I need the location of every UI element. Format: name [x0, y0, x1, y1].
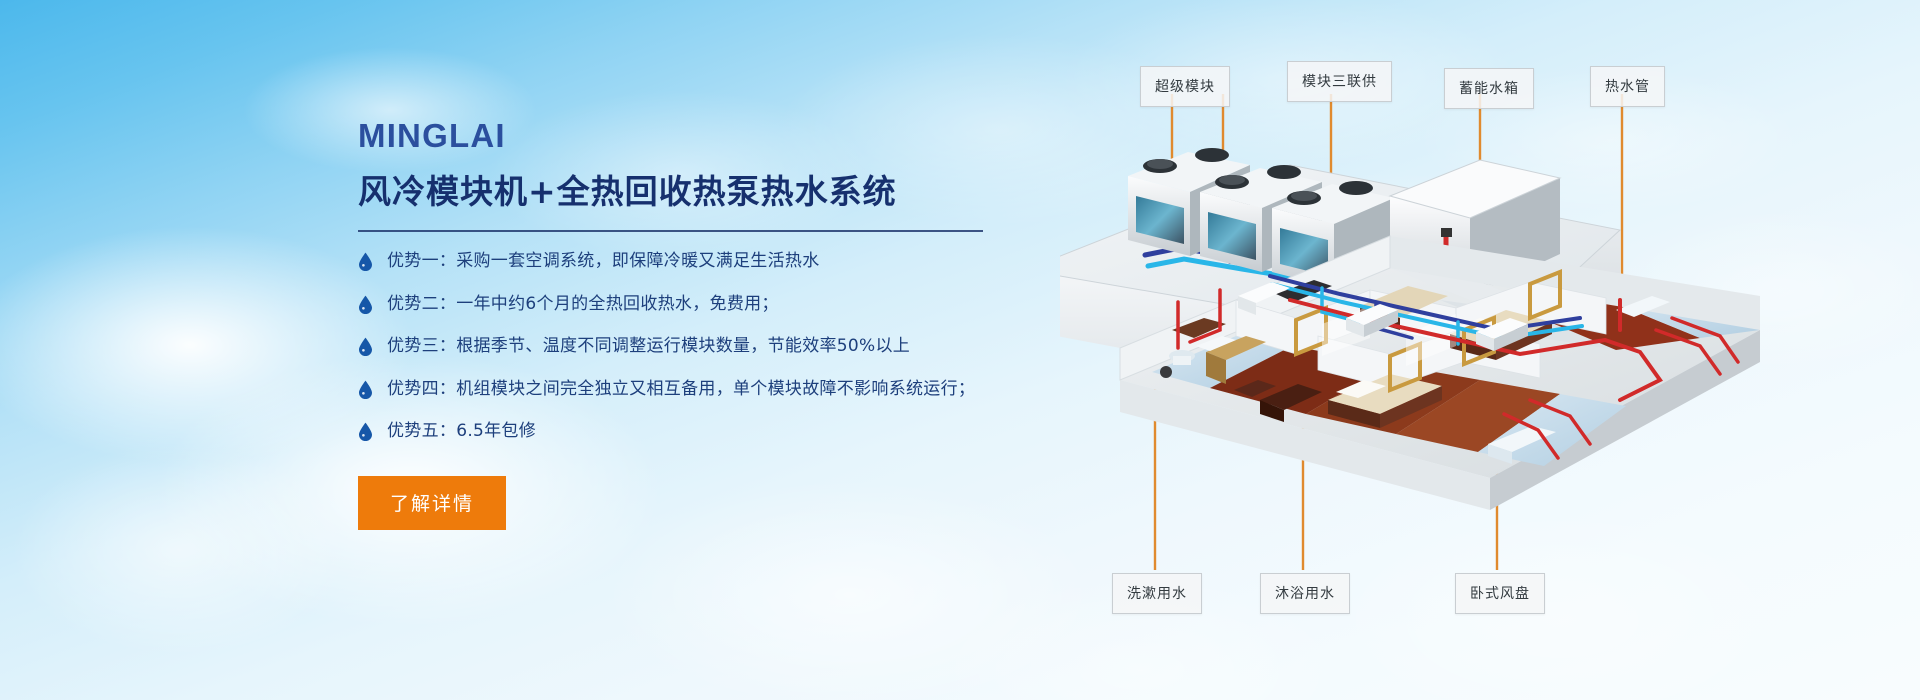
- water-drop-icon: [358, 337, 373, 356]
- water-drop-icon: [358, 380, 373, 399]
- list-item-label: 优势四：机组模块之间完全独立又相互备用，单个模块故障不影响系统运行；: [387, 377, 975, 403]
- learn-more-button[interactable]: 了解详情: [358, 476, 506, 530]
- benefit-list: 优势一：采购一套空调系统，即保障冷暖又满足生活热水 优势二：一年中约6个月的全热…: [358, 249, 1118, 445]
- page-title: 风冷模块机+全热回收热泵热水系统: [358, 173, 1118, 212]
- hero-copy: MINGLAI 风冷模块机+全热回收热泵热水系统 优势一：采购一套空调系统，即保…: [358, 118, 1118, 530]
- list-item-label: 优势五：6.5年包修: [387, 419, 536, 445]
- water-drop-icon: [358, 252, 373, 271]
- callout-reshuiguan[interactable]: 热水管: [1590, 66, 1665, 107]
- brand-name: MINGLAI: [358, 118, 1118, 154]
- list-item: 优势二：一年中约6个月的全热回收热水，免费用；: [358, 292, 1118, 318]
- callout-muyuyongshui[interactable]: 沐浴用水: [1260, 573, 1350, 614]
- list-item: 优势三：根据季节、温度不同调整运行模块数量，节能效率50%以上: [358, 334, 1118, 360]
- callout-woshifengpan[interactable]: 卧式风盘: [1455, 573, 1545, 614]
- list-item-label: 优势一：采购一套空调系统，即保障冷暖又满足生活热水: [387, 249, 820, 275]
- callout-chaojimokuai[interactable]: 超级模块: [1140, 66, 1230, 107]
- water-drop-icon: [358, 422, 373, 441]
- list-item: 优势一：采购一套空调系统，即保障冷暖又满足生活热水: [358, 249, 1118, 275]
- list-item: 优势四：机组模块之间完全独立又相互备用，单个模块故障不影响系统运行；: [358, 377, 1118, 403]
- system-diagram: 超级模块 模块三联供 蓄能水箱 热水管 洗漱用水 沐浴用水 卧式风盘: [1060, 0, 1920, 700]
- title-divider: [358, 230, 983, 232]
- water-drop-icon: [358, 295, 373, 314]
- hero-banner: MINGLAI 风冷模块机+全热回收热泵热水系统 优势一：采购一套空调系统，即保…: [0, 0, 1920, 700]
- callout-xishuyongshui[interactable]: 洗漱用水: [1112, 573, 1202, 614]
- list-item-label: 优势三：根据季节、温度不同调整运行模块数量，节能效率50%以上: [387, 334, 910, 360]
- list-item: 优势五：6.5年包修: [358, 419, 1118, 445]
- callout-xunengshuixiang[interactable]: 蓄能水箱: [1444, 68, 1534, 109]
- list-item-label: 优势二：一年中约6个月的全热回收热水，免费用；: [387, 292, 779, 318]
- callout-mokuaisanliangong[interactable]: 模块三联供: [1287, 61, 1392, 102]
